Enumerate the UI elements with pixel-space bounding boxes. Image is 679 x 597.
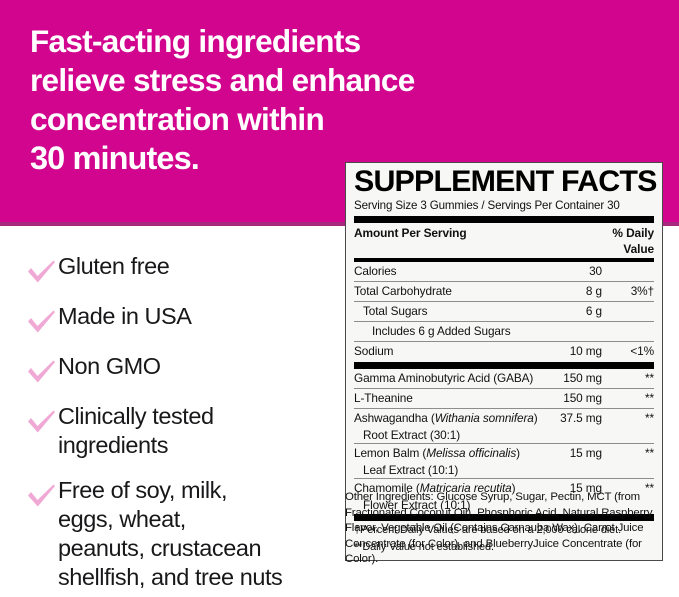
nutrition-row: Total Carbohydrate8 g3%†: [354, 282, 654, 301]
ingredient-row-amount: 37.5 mg: [538, 410, 602, 426]
ingredient-latin-name: Melissa officinalis: [426, 446, 516, 460]
ingredient-row-dv: **: [602, 390, 654, 406]
check-item-label: Gluten free: [58, 252, 354, 281]
rule-thick-top: [354, 216, 654, 223]
ingredient-row-subline: Root Extract (30:1): [354, 428, 654, 443]
check-item: Clinically tested ingredients: [24, 402, 354, 460]
check-item: Made in USA: [24, 302, 354, 336]
ingredient-row-dv: **: [602, 370, 654, 386]
ingredient-row-name: Gamma Aminobutyric Acid (GABA): [354, 370, 538, 386]
ingredient-row: L-Theanine150 mg**: [354, 389, 654, 408]
nutrition-row-amount: 10 mg: [538, 343, 602, 359]
rule-thick-middle: [354, 362, 654, 369]
facts-column-header: Amount Per Serving % Daily Value: [354, 223, 654, 258]
check-item-label: Clinically tested ingredients: [58, 402, 354, 460]
ingredient-row-name: Ashwagandha (Withania somnifera): [354, 410, 538, 426]
nutrition-row-name: Total Sugars: [363, 303, 538, 319]
nutrition-row: Calories30: [354, 262, 654, 281]
nutrition-row-amount: 8 g: [538, 283, 602, 299]
nutrition-row-dv: 3%†: [602, 283, 654, 299]
ingredient-row-name: L-Theanine: [354, 390, 538, 406]
other-ingredients-text: Other Ingredients: Glucose Syrup, Sugar,…: [345, 490, 665, 568]
check-item-label: Made in USA: [58, 302, 354, 331]
nutrition-row: Includes 6 g Added Sugars: [354, 322, 654, 341]
nutrition-row: Total Sugars6 g: [354, 302, 654, 321]
ingredient-row: Ashwagandha (Withania somnifera)37.5 mg*…: [354, 409, 654, 428]
nutrition-row: Sodium10 mg<1%: [354, 342, 654, 361]
supplement-facts-title: SUPPLEMENT FACTS: [354, 166, 663, 198]
ingredient-row-name: Lemon Balm (Melissa officinalis): [354, 445, 538, 461]
benefits-checklist: Gluten free Made in USA Non GMO Clinical…: [24, 252, 354, 592]
ingredient-row-amount: 150 mg: [538, 370, 602, 386]
ingredient-row-dv: **: [602, 410, 654, 426]
nutrition-row-name: Calories: [354, 263, 538, 279]
headline: Fast-acting ingredients relieve stress a…: [30, 22, 370, 178]
amount-per-serving-label: Amount Per Serving: [354, 225, 538, 241]
check-item-label: Free of soy, milk, eggs, wheat, peanuts,…: [58, 476, 354, 592]
headline-line-3: concentration within: [30, 100, 370, 139]
nutrition-rows-group: Calories30Total Carbohydrate8 g3%†Total …: [354, 262, 654, 361]
nutrition-row-name: Includes 6 g Added Sugars: [372, 323, 538, 339]
check-item: Free of soy, milk, eggs, wheat, peanuts,…: [24, 476, 354, 592]
ingredient-row: Lemon Balm (Melissa officinalis)15 mg**: [354, 444, 654, 463]
nutrition-row-name: Sodium: [354, 343, 538, 359]
check-item: Gluten free: [24, 252, 354, 286]
check-item: Non GMO: [24, 352, 354, 386]
ingredient-row-amount: 15 mg: [538, 445, 602, 461]
headline-line-4: 30 minutes.: [30, 139, 370, 178]
product-infographic: Fast-acting ingredients relieve stress a…: [0, 0, 679, 597]
ingredient-row-subline: Leaf Extract (10:1): [354, 463, 654, 478]
ingredient-latin-name: Withania somnifera: [435, 411, 534, 425]
daily-value-label: % Daily Value: [602, 225, 654, 257]
check-icon: [24, 406, 58, 436]
nutrition-row-amount: 6 g: [538, 303, 602, 319]
ingredient-row: Gamma Aminobutyric Acid (GABA)150 mg**: [354, 369, 654, 388]
headline-line-2: relieve stress and enhance: [30, 61, 370, 100]
serving-size-line: Serving Size 3 Gummies / Servings Per Co…: [354, 198, 654, 215]
nutrition-row-amount: 30: [538, 263, 602, 279]
ingredient-row-amount: 150 mg: [538, 390, 602, 406]
nutrition-row-name: Total Carbohydrate: [354, 283, 538, 299]
check-icon: [24, 356, 58, 386]
check-icon: [24, 256, 58, 286]
nutrition-row-dv: <1%: [602, 343, 654, 359]
headline-line-1: Fast-acting ingredients: [30, 22, 370, 61]
ingredient-row-dv: **: [602, 445, 654, 461]
check-icon: [24, 306, 58, 336]
check-icon: [24, 480, 58, 510]
check-item-label: Non GMO: [58, 352, 354, 381]
